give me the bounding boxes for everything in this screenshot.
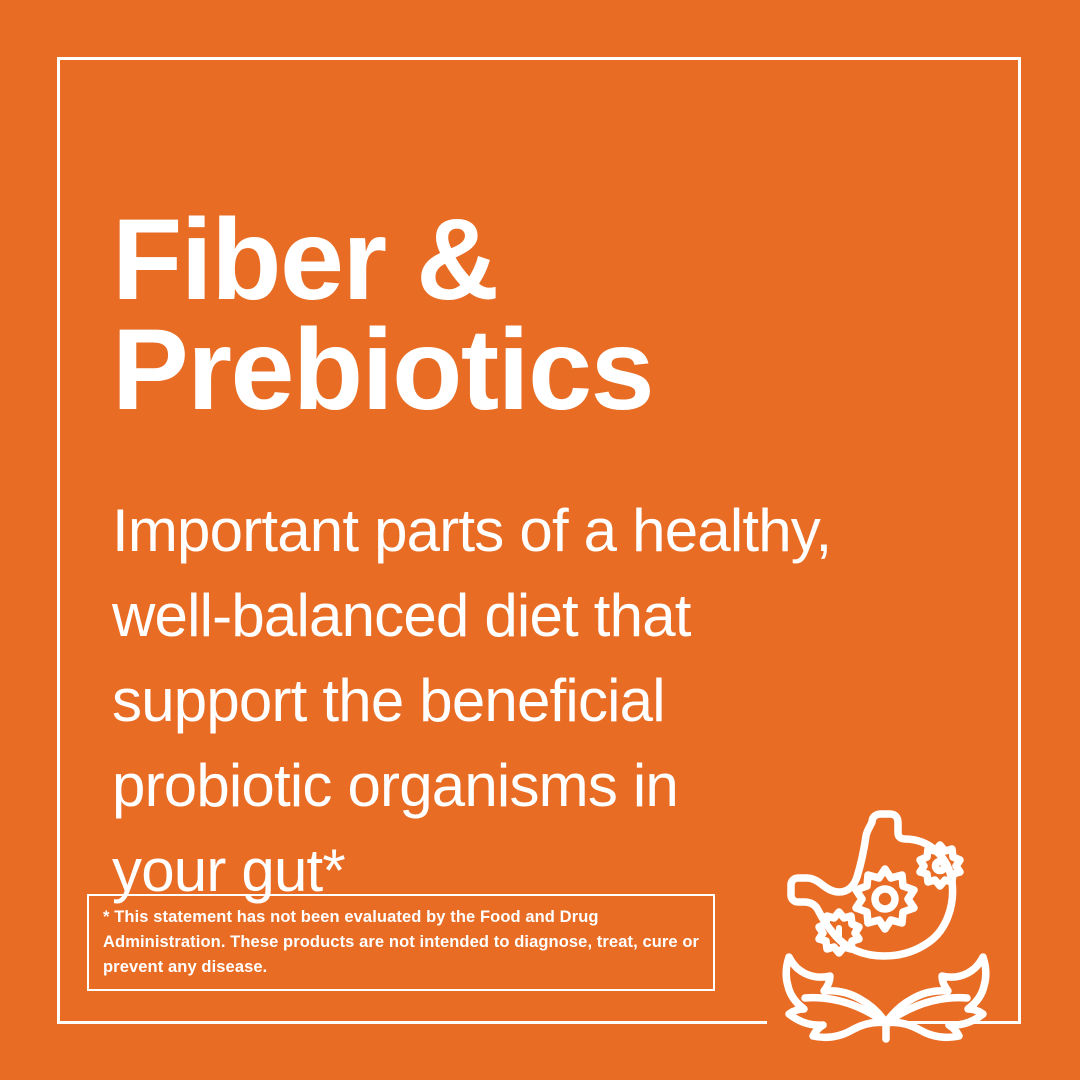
microbe-large — [856, 869, 914, 929]
frame-border-bottom-left — [57, 1021, 767, 1024]
frame-border-top — [57, 57, 1021, 60]
stomach-with-probiotics-and-leaves-icon — [760, 806, 1010, 1046]
fda-disclaimer-box: * This statement has not been evaluated … — [87, 894, 715, 991]
microbe-small — [819, 912, 859, 953]
fda-disclaimer-text: * This statement has not been evaluated … — [103, 908, 699, 976]
leaf-right — [886, 957, 986, 1037]
leaf-left — [786, 957, 886, 1037]
frame-border-right — [1018, 57, 1021, 1024]
frame-border-left — [57, 57, 60, 1024]
promo-card: Fiber & Prebiotics Important parts of a … — [0, 0, 1080, 1080]
page-title: Fiber & Prebiotics — [112, 205, 942, 426]
